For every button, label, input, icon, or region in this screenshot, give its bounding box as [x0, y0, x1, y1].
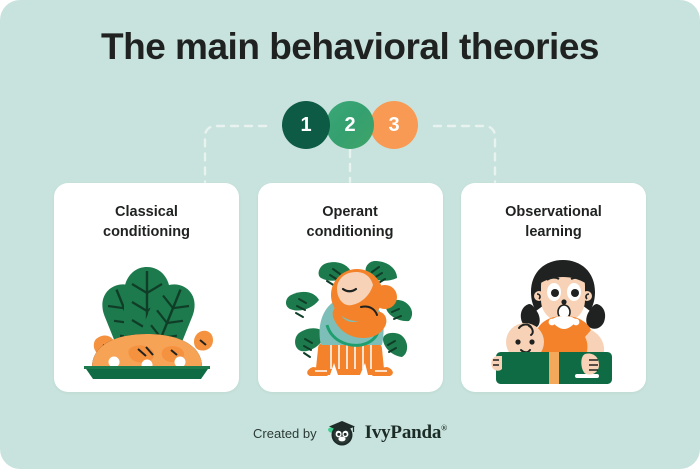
step-number-3: 3 — [388, 114, 399, 137]
person-sitting-with-leaves-illustration — [258, 248, 443, 392]
step-number-1: 1 — [300, 114, 311, 137]
brand-registered-mark: ® — [441, 424, 447, 433]
ivypanda-panda-graduate-logo — [326, 419, 356, 447]
page-title: The main behavioral theories — [0, 26, 700, 68]
card-title-line1: Operant — [270, 202, 430, 222]
created-by-label: Created by — [253, 426, 317, 441]
card-title-line2: conditioning — [67, 222, 227, 242]
girl-reading-book-with-baby-illustration — [461, 248, 646, 392]
card-title-line2: conditioning — [270, 222, 430, 242]
step-badge-1[interactable]: 1 — [282, 101, 330, 149]
card-observational-learning[interactable]: Observational learning — [461, 183, 646, 392]
footer-credit: Created by IvyPanda® — [0, 419, 700, 447]
card-classical-conditioning[interactable]: Classical conditioning — [54, 183, 239, 392]
step-badges: 1 2 3 — [0, 101, 700, 149]
card-title-operant: Operant conditioning — [270, 202, 430, 242]
carrots-in-planter-illustration — [54, 248, 239, 392]
card-title-line1: Classical — [67, 202, 227, 222]
brand-name-text: IvyPanda — [365, 422, 442, 443]
step-badge-2[interactable]: 2 — [326, 101, 374, 149]
card-operant-conditioning[interactable]: Operant conditioning — [258, 183, 443, 392]
infographic-canvas: The main behavioral theories 1 2 3 Class… — [0, 0, 700, 469]
step-badge-3[interactable]: 3 — [370, 101, 418, 149]
brand-name: IvyPanda® — [365, 422, 447, 444]
step-number-2: 2 — [344, 114, 355, 137]
card-title-line2: learning — [474, 222, 634, 242]
card-title-line1: Observational — [474, 202, 634, 222]
theory-cards: Classical conditioning — [54, 183, 646, 392]
card-title-observational: Observational learning — [474, 202, 634, 242]
card-title-classical: Classical conditioning — [67, 202, 227, 242]
